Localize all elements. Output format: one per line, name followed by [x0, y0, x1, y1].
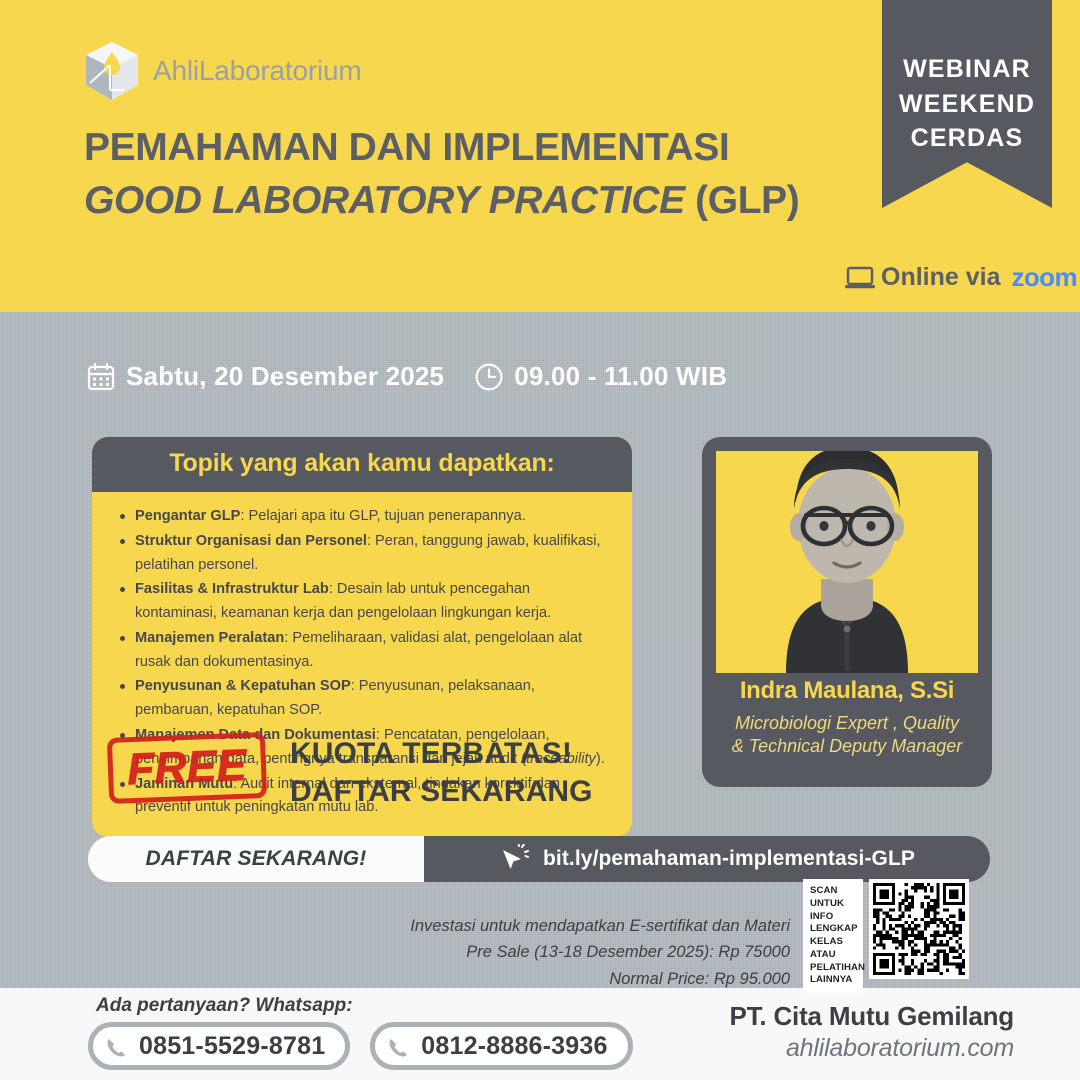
promo-text: KUOTA TERBATAS! DAFTAR SEKARANG: [290, 735, 593, 810]
qr-code-image: [873, 883, 965, 975]
title-suffix: (GLP): [685, 179, 800, 222]
page-title: PEMAHAMAN DAN IMPLEMENTASI GOOD LABORATO…: [84, 126, 824, 222]
event-date: Sabtu, 20 Desember 2025: [126, 361, 444, 392]
pricing-info: Investasi untuk mendapatkan E-sertifikat…: [410, 913, 790, 992]
company-info: PT. Cita Mutu Gemilang ahlilaboratorium.…: [729, 1001, 1014, 1063]
speaker-role-line-2: & Technical Deputy Manager: [732, 736, 962, 756]
register-url: bit.ly/pemahaman-implementasi-GLP: [543, 847, 915, 871]
calendar-icon: [86, 362, 116, 392]
register-cta-label: DAFTAR SEKARANG!: [146, 847, 367, 871]
click-cursor-icon: [499, 844, 529, 874]
pricing-line-2: Pre Sale (13-18 Desember 2025): Rp 75000: [410, 939, 790, 965]
clock-icon: [474, 362, 504, 392]
ribbon-line-1: WEBINAR: [903, 52, 1031, 87]
ribbon-line-3: CERDAS: [911, 121, 1024, 156]
topic-item: Manajemen Peralatan: Pemeliharaan, valid…: [118, 627, 612, 675]
brand-logo-text: AhliLaboratorium: [153, 55, 361, 87]
webinar-poster: AhliLaboratorium PEMAHAMAN DAN IMPLEMENT…: [0, 0, 1080, 1080]
speaker-role: Microbiologi Expert , Quality & Technica…: [710, 712, 984, 759]
laptop-icon: [845, 266, 875, 290]
speaker-caption: Indra Maulana, S.Si Microbiologi Expert …: [702, 677, 992, 759]
title-emphasis: GOOD LABORATORY PRACTICE: [84, 179, 685, 222]
whatsapp-label: Ada pertanyaan? Whatsapp:: [96, 995, 353, 1017]
schedule-row: Sabtu, 20 Desember 2025 09.00 - 11.00 WI…: [86, 361, 727, 392]
topic-item: Penyusunan & Kepatuhan SOP: Penyusunan, …: [118, 675, 612, 723]
whatsapp-number: 0851-5529-8781: [139, 1032, 325, 1061]
qr-label-line: SCAN: [810, 885, 857, 898]
qr-block[interactable]: SCANUNTUKINFOLENGKAPKELAS ATAUPELATIHANL…: [803, 879, 969, 993]
phone-icon: [99, 1031, 129, 1061]
title-line-1: PEMAHAMAN DAN IMPLEMENTASI: [84, 126, 824, 170]
online-platform-badge: Online via zoom: [845, 262, 1077, 293]
register-cta-button[interactable]: DAFTAR SEKARANG!: [88, 836, 424, 882]
qr-label-line: UNTUK: [810, 898, 857, 911]
qr-label-line: LENGKAP: [810, 923, 857, 936]
topic-item: Struktur Organisasi dan Personel: Peran,…: [118, 530, 612, 578]
cube-droplet-logo-icon: [83, 40, 141, 102]
zoom-wordmark: zoom: [1011, 262, 1076, 293]
qr-code[interactable]: [869, 879, 969, 979]
topics-header: Topik yang akan kamu dapatkan:: [92, 437, 632, 492]
register-bar[interactable]: DAFTAR SEKARANG! bit.ly/pemahaman-implem…: [88, 836, 990, 882]
promo-line-1: KUOTA TERBATAS!: [290, 735, 593, 773]
qr-label-line: KELAS ATAU: [810, 936, 857, 962]
qr-label-line: INFO: [810, 911, 857, 924]
qr-instruction-label: SCANUNTUKINFOLENGKAPKELAS ATAUPELATIHANL…: [803, 879, 863, 993]
phone-icon: [381, 1031, 411, 1061]
title-line-2: GOOD LABORATORY PRACTICE (GLP): [84, 179, 824, 223]
free-stamp-label: FREE: [126, 741, 247, 796]
topic-item: Fasilitas & Infrastruktur Lab: Desain la…: [118, 578, 612, 626]
free-stamp: FREE: [107, 732, 267, 804]
pricing-line-3: Normal Price: Rp 95.000: [410, 966, 790, 992]
ribbon-line-2: WEEKEND: [899, 87, 1035, 122]
whatsapp-pill[interactable]: 0812-8886-3936: [370, 1022, 632, 1070]
speaker-name: Indra Maulana, S.Si: [710, 677, 984, 706]
event-time: 09.00 - 11.00 WIB: [514, 361, 727, 392]
pricing-line-1: Investasi untuk mendapatkan E-sertifikat…: [410, 913, 790, 939]
qr-label-line: PELATIHAN: [810, 962, 857, 975]
speaker-photo: [716, 451, 978, 673]
speaker-role-line-1: Microbiologi Expert , Quality: [735, 713, 959, 733]
topics-heading: Topik yang akan kamu dapatkan:: [169, 449, 554, 477]
register-url-button[interactable]: bit.ly/pemahaman-implementasi-GLP: [424, 836, 990, 882]
company-name: PT. Cita Mutu Gemilang: [729, 1001, 1014, 1032]
whatsapp-numbers: 0851-5529-87810812-8886-3936: [88, 1022, 633, 1070]
brand-logo: AhliLaboratorium: [83, 40, 361, 102]
speaker-card: Indra Maulana, S.Si Microbiologi Expert …: [702, 437, 992, 787]
whatsapp-pill[interactable]: 0851-5529-8781: [88, 1022, 350, 1070]
speaker-headshot-illustration: [716, 451, 978, 673]
qr-label-line: LAINNYA: [810, 974, 857, 987]
promo-line-2: DAFTAR SEKARANG: [290, 773, 593, 811]
whatsapp-number: 0812-8886-3936: [421, 1032, 607, 1061]
online-label: Online via: [881, 263, 1000, 292]
company-website: ahlilaboratorium.com: [729, 1034, 1014, 1063]
topic-item: Pengantar GLP: Pelajari apa itu GLP, tuj…: [118, 505, 612, 529]
